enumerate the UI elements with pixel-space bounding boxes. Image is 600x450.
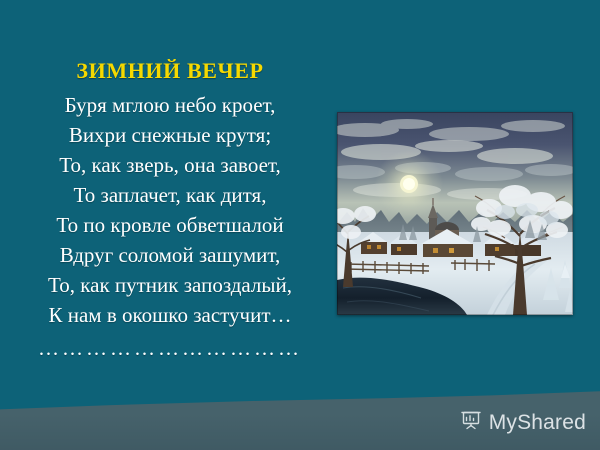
poem-line: К нам в окошко застучит… <box>0 300 340 330</box>
poem-line: То по кровле обветшалой <box>0 210 340 240</box>
poem-body: Буря мглою небо кроет, Вихри снежные кру… <box>0 90 340 330</box>
poem-line: Вихри снежные крутя; <box>0 120 340 150</box>
poem-line: То, как зверь, она завоет, <box>0 150 340 180</box>
poem-title: ЗИМНИЙ ВЕЧЕР <box>0 56 340 86</box>
poem-line: Буря мглою небо кроет, <box>0 90 340 120</box>
myshared-watermark: MyShared <box>460 409 586 436</box>
painting-artwork <box>337 112 573 315</box>
slide-canvas: ЗИМНИЙ ВЕЧЕР Буря мглою небо кроет, Вихр… <box>0 0 600 450</box>
poem-trailing-dots: …………………………… <box>0 334 340 362</box>
winter-village-painting <box>337 112 573 315</box>
myshared-label: MyShared <box>489 411 586 435</box>
presentation-chart-icon <box>460 409 482 436</box>
poem-text-column: ЗИМНИЙ ВЕЧЕР Буря мглою небо кроет, Вихр… <box>0 56 340 362</box>
poem-line: То, как путник запоздалый, <box>0 270 340 300</box>
poem-line: То заплачет, как дитя, <box>0 180 340 210</box>
poem-line: Вдруг соломой зашумит, <box>0 240 340 270</box>
